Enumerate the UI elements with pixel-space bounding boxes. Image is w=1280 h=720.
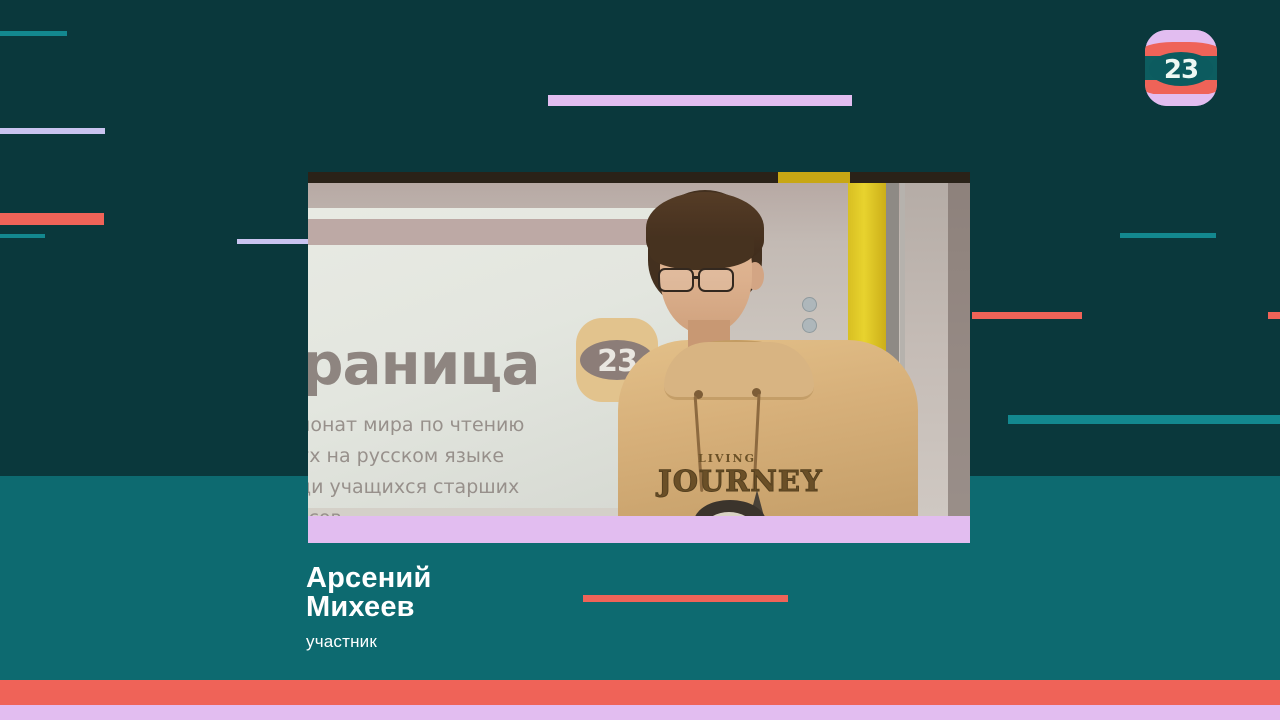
bottom-bar-lavender [0, 705, 1280, 720]
speaker-role: участник [306, 632, 377, 652]
bottom-bar-coral [0, 680, 1280, 705]
photo-underline-band [308, 516, 970, 543]
speaker-last-name: Михеев [306, 593, 432, 622]
logo-stripe-lavender-bottom [1145, 94, 1217, 106]
deco-line-coral-far-right [1268, 312, 1280, 319]
hood [664, 342, 814, 400]
channel-logo-icon: 23 [1145, 30, 1217, 106]
glasses-right-lens [698, 268, 734, 292]
deco-line-coral-left [0, 213, 104, 225]
deco-line-teal-top-left [0, 31, 67, 36]
deco-line-teal-right-top [1120, 233, 1216, 238]
glasses-bridge [694, 276, 700, 279]
speaker-name: Арсений Михеев [306, 564, 432, 622]
speaker-first-name: Арсений [306, 564, 432, 593]
photo-ceiling-yellow-strip [778, 172, 850, 183]
deco-line-coral-under-name [583, 595, 788, 602]
speaker-photo: раница 23 ионат мира по чтению ух на рус… [308, 172, 970, 516]
deco-line-lavender-left [0, 128, 105, 134]
glasses-left-lens [658, 268, 694, 292]
speaker-figure: LIVING JOURNEY [636, 190, 936, 516]
slide-title: раница [308, 330, 540, 398]
logo-number: 23 [1145, 54, 1217, 86]
photo-ceiling-strip [308, 172, 970, 183]
deco-line-lavender-mid-left [237, 239, 308, 244]
deco-line-lavender-top [548, 95, 852, 106]
deco-line-teal-right-wide [1008, 415, 1280, 424]
deco-line-coral-right-upper [972, 312, 1082, 319]
deco-line-teal-left-small [0, 234, 45, 238]
hoodie-text-journey: JOURNEY [658, 464, 823, 498]
wall-right-shadow [948, 183, 970, 516]
broadcast-overlay-stage: раница 23 ионат мира по чтению ух на рус… [0, 0, 1280, 720]
